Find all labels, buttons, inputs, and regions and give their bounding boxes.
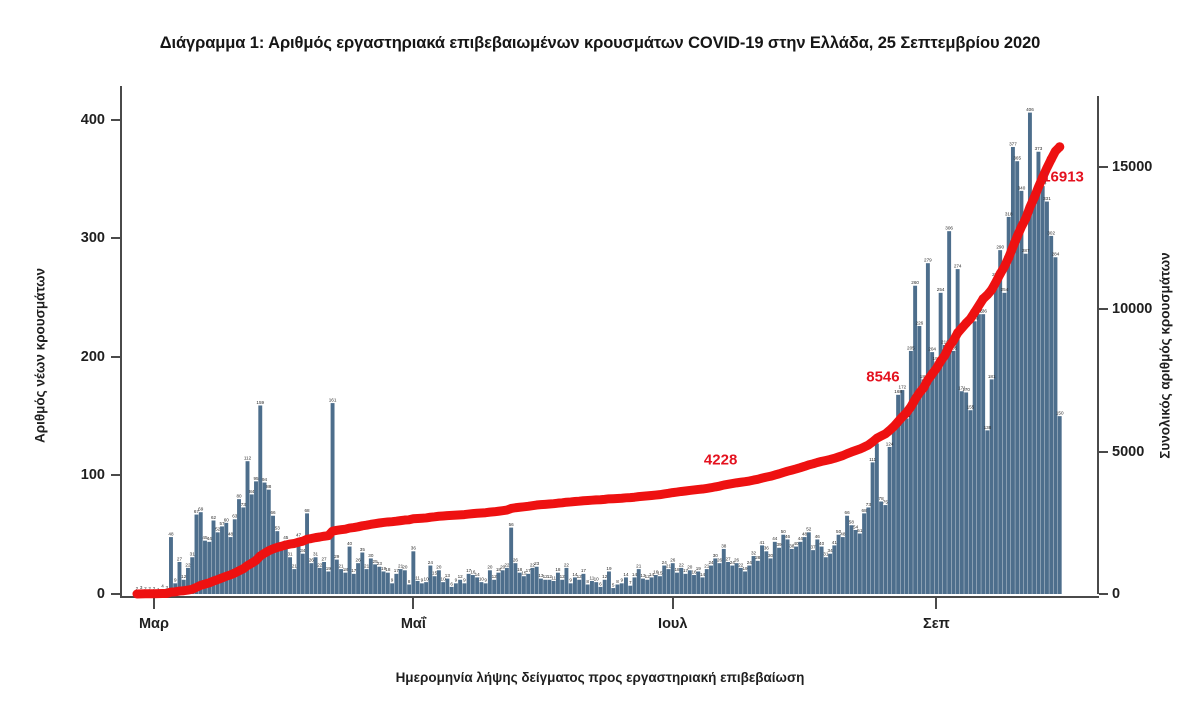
bar-value-label: 168 — [894, 389, 902, 394]
bar — [650, 577, 654, 594]
bar — [922, 379, 926, 594]
bar-value-label: 24 — [428, 560, 434, 565]
bar-value-label: 12 — [181, 574, 187, 579]
bar — [479, 582, 483, 594]
bar-value-label: 12 — [560, 574, 566, 579]
bar-value-label: 22 — [317, 562, 323, 567]
bar — [675, 573, 679, 594]
bar — [258, 405, 262, 594]
bar — [560, 580, 564, 594]
bar-value-label: 69 — [198, 507, 204, 512]
bar — [756, 561, 760, 594]
bar — [947, 231, 951, 594]
cumulative-line-marker — [962, 319, 971, 328]
bar-value-label: 80 — [236, 494, 242, 499]
bar — [956, 269, 960, 594]
bar — [403, 570, 407, 594]
bar — [875, 443, 879, 594]
bar — [547, 580, 551, 594]
bar-value-label: 40 — [793, 541, 799, 546]
bar — [496, 573, 500, 594]
bar — [530, 568, 534, 594]
cumulative-line-marker — [1055, 142, 1064, 151]
bar — [871, 462, 875, 594]
bar — [667, 569, 671, 594]
bar — [849, 525, 853, 594]
bar-value-label: 22 — [679, 562, 685, 567]
bars-group — [135, 113, 1062, 594]
chart-canvas: 2322214348927122231676945446252576048638… — [0, 0, 1200, 715]
bar — [433, 576, 437, 594]
bar-value-label: 6 — [450, 581, 453, 586]
bar-value-label: 3 — [140, 585, 143, 590]
bar-value-label: 21 — [666, 564, 672, 569]
bar-value-label: 30 — [768, 553, 774, 558]
bar — [726, 562, 730, 594]
bar — [382, 571, 386, 594]
cumulative-value-annotation: 8546 — [866, 369, 899, 386]
bar — [684, 574, 688, 594]
bar — [633, 577, 637, 594]
bar — [1049, 236, 1053, 594]
bar-value-label: 306 — [945, 226, 953, 231]
bar — [394, 574, 398, 594]
bar-value-label: 27 — [321, 556, 327, 561]
bar-value-label: 23 — [534, 561, 540, 566]
bar — [343, 573, 347, 594]
bar — [701, 577, 705, 594]
bar — [977, 314, 981, 594]
bar — [892, 430, 896, 594]
bar-value-label: 112 — [244, 456, 252, 461]
bar-value-label: 226 — [916, 320, 924, 325]
bar-value-label: 12 — [492, 574, 498, 579]
bar-value-label: 75 — [883, 499, 889, 504]
bar-value-label: 19 — [606, 566, 612, 571]
bar — [505, 568, 509, 594]
bar — [305, 513, 309, 594]
bar — [747, 566, 751, 594]
cumulative-line-marker — [1013, 232, 1022, 241]
bar — [1007, 217, 1011, 594]
bar — [730, 566, 734, 594]
bar-value-label: 6 — [599, 581, 602, 586]
bar-value-label: 17 — [526, 568, 532, 573]
bar — [973, 321, 977, 594]
bar-value-label: 18 — [555, 567, 561, 572]
bar-value-label: 95 — [253, 476, 259, 481]
bar — [1028, 113, 1032, 594]
bar-value-label: 377 — [1009, 141, 1017, 146]
bar — [399, 569, 403, 594]
bar-value-label: 7 — [629, 580, 632, 585]
bar — [581, 574, 585, 594]
bar — [951, 351, 955, 594]
bar-value-label: 340 — [1018, 185, 1026, 190]
bar-value-label: 46 — [815, 534, 821, 539]
bar — [220, 526, 224, 594]
bar-value-label: 13 — [445, 573, 451, 578]
bar-value-label: 254 — [937, 287, 945, 292]
bar — [246, 461, 250, 594]
bar — [985, 430, 989, 594]
bar-value-label: 15 — [432, 571, 438, 576]
cumulative-line-marker — [928, 369, 937, 378]
bar — [390, 583, 394, 594]
bar — [586, 585, 590, 594]
bar — [841, 537, 845, 594]
bar — [815, 539, 819, 594]
bar-value-label: 21 — [636, 564, 642, 569]
bar — [939, 293, 943, 594]
bar — [616, 585, 620, 594]
bar — [998, 250, 1002, 594]
bar — [930, 352, 934, 594]
bar — [1041, 186, 1045, 594]
bar-value-label: 155 — [967, 405, 975, 410]
bar — [301, 554, 305, 594]
bar-value-label: 30 — [368, 553, 374, 558]
bar-value-label: 170 — [962, 387, 970, 392]
bar — [326, 571, 330, 594]
bar-value-label: 36 — [411, 546, 417, 551]
bar — [739, 568, 743, 594]
covid-cases-chart-figure: Διάγραμμα 1: Αριθμός εργαστηριακά επιβεβ… — [0, 0, 1200, 715]
bar — [577, 580, 581, 594]
bar — [250, 494, 254, 594]
bar — [411, 551, 415, 594]
bar-value-label: 52 — [806, 527, 812, 532]
bar — [458, 580, 462, 594]
bar-value-label: 37 — [811, 545, 817, 550]
bar — [420, 583, 424, 594]
cumulative-line-marker — [919, 383, 928, 392]
bar-value-label: 31 — [190, 552, 196, 557]
bar-value-label: 40 — [819, 541, 825, 546]
bar-value-label: 290 — [996, 245, 1004, 250]
bar — [824, 557, 828, 594]
bar-value-label: 52 — [215, 527, 221, 532]
bar — [832, 545, 836, 594]
bar-value-label: 26 — [309, 558, 315, 563]
bar-value-label: 26 — [717, 558, 723, 563]
bar — [807, 532, 811, 594]
bar — [1024, 254, 1028, 594]
bar-value-label: 34 — [300, 548, 306, 553]
bar-value-label: 84 — [249, 489, 255, 494]
bar — [624, 577, 628, 594]
bar-value-label: 24 — [708, 560, 714, 565]
bar — [373, 564, 377, 594]
bar-value-label: 48 — [168, 531, 174, 536]
bar-value-label: 22 — [185, 562, 191, 567]
cumulative-line-marker — [953, 328, 962, 337]
bar-value-label: 9 — [484, 578, 487, 583]
bar — [620, 583, 624, 594]
bar — [854, 530, 858, 594]
bar-value-label: 279 — [924, 258, 932, 263]
cumulative-line-marker — [1021, 214, 1030, 223]
bar-value-label: 18 — [674, 567, 680, 572]
bar-value-label: 161 — [329, 398, 337, 403]
bar-value-label: 318 — [1005, 211, 1013, 216]
bar — [590, 581, 594, 594]
bar-value-label: 29 — [334, 554, 340, 559]
bar — [781, 535, 785, 594]
bar — [365, 569, 369, 594]
bar-value-label: 159 — [256, 400, 264, 405]
bar — [777, 548, 781, 594]
bar-value-label: 8 — [408, 579, 411, 584]
bar-value-label: 44 — [207, 536, 213, 541]
bar-value-label: 44 — [798, 536, 804, 541]
bar — [1032, 202, 1036, 594]
cumulative-line-marker — [1004, 253, 1013, 262]
bar-value-label: 48 — [228, 531, 234, 536]
bar — [760, 545, 764, 594]
bar — [888, 447, 892, 594]
bar — [450, 587, 454, 594]
bar — [518, 573, 522, 594]
cumulative-line-marker — [970, 308, 979, 317]
bar — [1058, 416, 1062, 594]
bar-value-label: 21 — [292, 564, 298, 569]
bar — [309, 563, 313, 594]
bar — [543, 580, 547, 594]
bar-value-label: 331 — [1043, 196, 1051, 201]
bar-value-label: 260 — [911, 280, 919, 285]
bar — [879, 502, 883, 594]
bar-value-label: 62 — [211, 515, 217, 520]
bar-value-label: 8 — [616, 579, 619, 584]
bar-value-label: 28 — [755, 555, 761, 560]
bar — [539, 579, 543, 594]
bar-value-label: 204 — [928, 347, 936, 352]
bar-value-label: 24 — [747, 560, 753, 565]
bar-value-label: 68 — [304, 508, 310, 513]
bar — [645, 580, 649, 594]
bar — [705, 569, 709, 594]
bar-value-label: 31 — [313, 552, 319, 557]
bar — [909, 351, 913, 594]
bar-value-label: 9 — [174, 578, 177, 583]
bar — [535, 567, 539, 594]
cumulative-line-marker — [987, 285, 996, 294]
bar-value-label: 48 — [802, 531, 808, 536]
bar-value-label: 51 — [857, 528, 863, 533]
bar-value-label: 73 — [241, 502, 247, 507]
bar — [658, 576, 662, 594]
bar-value-label: 20 — [402, 565, 408, 570]
cumulative-line-marker — [1047, 155, 1056, 164]
bar — [790, 549, 794, 594]
bar — [713, 558, 717, 594]
bar-value-label: 14 — [623, 572, 629, 577]
bar — [845, 516, 849, 594]
bar — [564, 568, 568, 594]
bar — [263, 483, 267, 594]
bar-value-label: 88 — [266, 484, 272, 489]
bar-value-label: 17 — [394, 568, 400, 573]
bar-value-label: 4 — [161, 584, 164, 589]
bar-value-label: 287 — [1022, 248, 1030, 253]
bar-value-label: 15 — [657, 571, 663, 576]
bar — [603, 580, 607, 594]
bar — [960, 391, 964, 594]
bar-value-label: 19 — [326, 566, 332, 571]
bar — [441, 582, 445, 594]
bar — [454, 583, 458, 594]
bar — [994, 277, 998, 594]
bar-value-label: 365 — [1013, 156, 1021, 161]
bar-value-label: 150 — [1056, 411, 1064, 416]
bar — [917, 326, 921, 594]
bar-value-label: 46 — [785, 534, 791, 539]
bar — [1036, 152, 1040, 594]
bar-value-label: 302 — [1047, 230, 1055, 235]
cumulative-line-marker — [979, 294, 988, 303]
bar-value-label: 12 — [577, 574, 583, 579]
bar-value-label: 66 — [270, 510, 276, 515]
bar-value-label: 39 — [776, 542, 782, 547]
bar-value-label: 373 — [1035, 146, 1043, 151]
bar — [407, 585, 411, 594]
bar — [752, 556, 756, 594]
bar — [437, 570, 441, 594]
bar-value-label: 45 — [283, 535, 289, 540]
bar-value-label: 38 — [721, 543, 727, 548]
bar-value-label: 5 — [612, 582, 615, 587]
bar — [229, 537, 233, 594]
bar-value-label: 205 — [907, 345, 915, 350]
bar-value-label: 18 — [343, 567, 349, 572]
bar-value-label: 63 — [232, 514, 238, 519]
bar — [280, 548, 284, 594]
bar — [233, 519, 237, 594]
bar — [828, 554, 832, 594]
bar — [292, 569, 296, 594]
bar — [611, 588, 615, 594]
bar — [599, 587, 603, 594]
bar — [254, 481, 258, 594]
bar — [990, 379, 994, 594]
bar — [318, 568, 322, 594]
bar-value-label: 35 — [360, 547, 366, 552]
bar-value-label: 26 — [356, 558, 362, 563]
bar-value-label: 44 — [772, 536, 778, 541]
bar — [981, 314, 985, 594]
bar — [1045, 202, 1049, 594]
bar-value-label: 19 — [696, 566, 702, 571]
bar — [424, 582, 428, 594]
bar — [552, 581, 556, 594]
bar — [866, 507, 870, 594]
bar — [654, 575, 658, 594]
bar-value-label: 17 — [351, 568, 357, 573]
bar — [837, 535, 841, 594]
bar-value-label: 181 — [988, 374, 996, 379]
bar-value-label: 406 — [1026, 107, 1034, 112]
bar-value-label: 14 — [632, 572, 638, 577]
bar — [169, 537, 173, 594]
bar-value-label: 22 — [564, 562, 570, 567]
bar-value-label: 19 — [742, 566, 748, 571]
bar — [769, 558, 773, 594]
bar — [798, 542, 802, 594]
bar — [416, 581, 420, 594]
cumulative-value-annotation: 4228 — [704, 451, 737, 468]
bar — [501, 570, 505, 594]
bar — [492, 580, 496, 594]
bar — [360, 553, 364, 595]
bar-value-label: 53 — [275, 526, 281, 531]
bar — [356, 563, 360, 594]
bar — [858, 534, 862, 594]
cumulative-line-marker — [936, 357, 945, 366]
bar-value-label: 94 — [262, 477, 268, 482]
bar — [811, 550, 815, 594]
bar-value-label: 47 — [296, 533, 302, 538]
bar — [692, 575, 696, 594]
bar-value-label: 34 — [828, 548, 834, 553]
bar — [267, 490, 271, 594]
bar-value-label: 31 — [287, 552, 293, 557]
bar — [462, 583, 466, 594]
bar — [718, 563, 722, 594]
bar — [794, 547, 798, 594]
bar-value-label: 26 — [670, 558, 676, 563]
bar — [934, 362, 938, 594]
bar-value-label: 48 — [840, 531, 846, 536]
bar-value-label: 12 — [602, 574, 608, 579]
bar-value-label: 17 — [581, 568, 587, 573]
bar — [735, 563, 739, 594]
bar-value-label: 124 — [886, 441, 894, 446]
bar — [569, 583, 573, 594]
bar — [484, 583, 488, 594]
bar — [607, 571, 611, 594]
bar — [445, 579, 449, 594]
bar-value-label: 66 — [845, 510, 851, 515]
bar-value-label: 172 — [899, 384, 907, 389]
cumulative-line-marker — [945, 342, 954, 351]
bar-value-label: 41 — [832, 540, 838, 545]
bar — [331, 403, 335, 594]
bar-value-label: 254 — [1001, 287, 1009, 292]
bar-value-label: 11 — [551, 575, 556, 580]
bar — [905, 419, 909, 594]
bar-value-label: 20 — [487, 565, 493, 570]
bar-value-label: 41 — [759, 540, 765, 545]
bar — [526, 574, 530, 594]
bar-value-label: 26 — [513, 558, 519, 563]
bar — [522, 576, 526, 594]
bar — [968, 410, 972, 594]
bar — [883, 505, 887, 594]
bar — [803, 537, 807, 594]
bar — [339, 569, 343, 594]
bar — [352, 574, 356, 594]
bar-value-label: 56 — [509, 522, 515, 527]
bar-value-label: 18 — [385, 567, 391, 572]
bar — [926, 263, 930, 594]
cumulative-value-annotation: 16913 — [1042, 169, 1084, 186]
bar-value-label: 9 — [463, 578, 466, 583]
bar-value-label: 14 — [700, 572, 706, 577]
cumulative-line-marker — [1030, 193, 1039, 202]
bar — [573, 577, 577, 594]
bar — [1054, 257, 1058, 594]
